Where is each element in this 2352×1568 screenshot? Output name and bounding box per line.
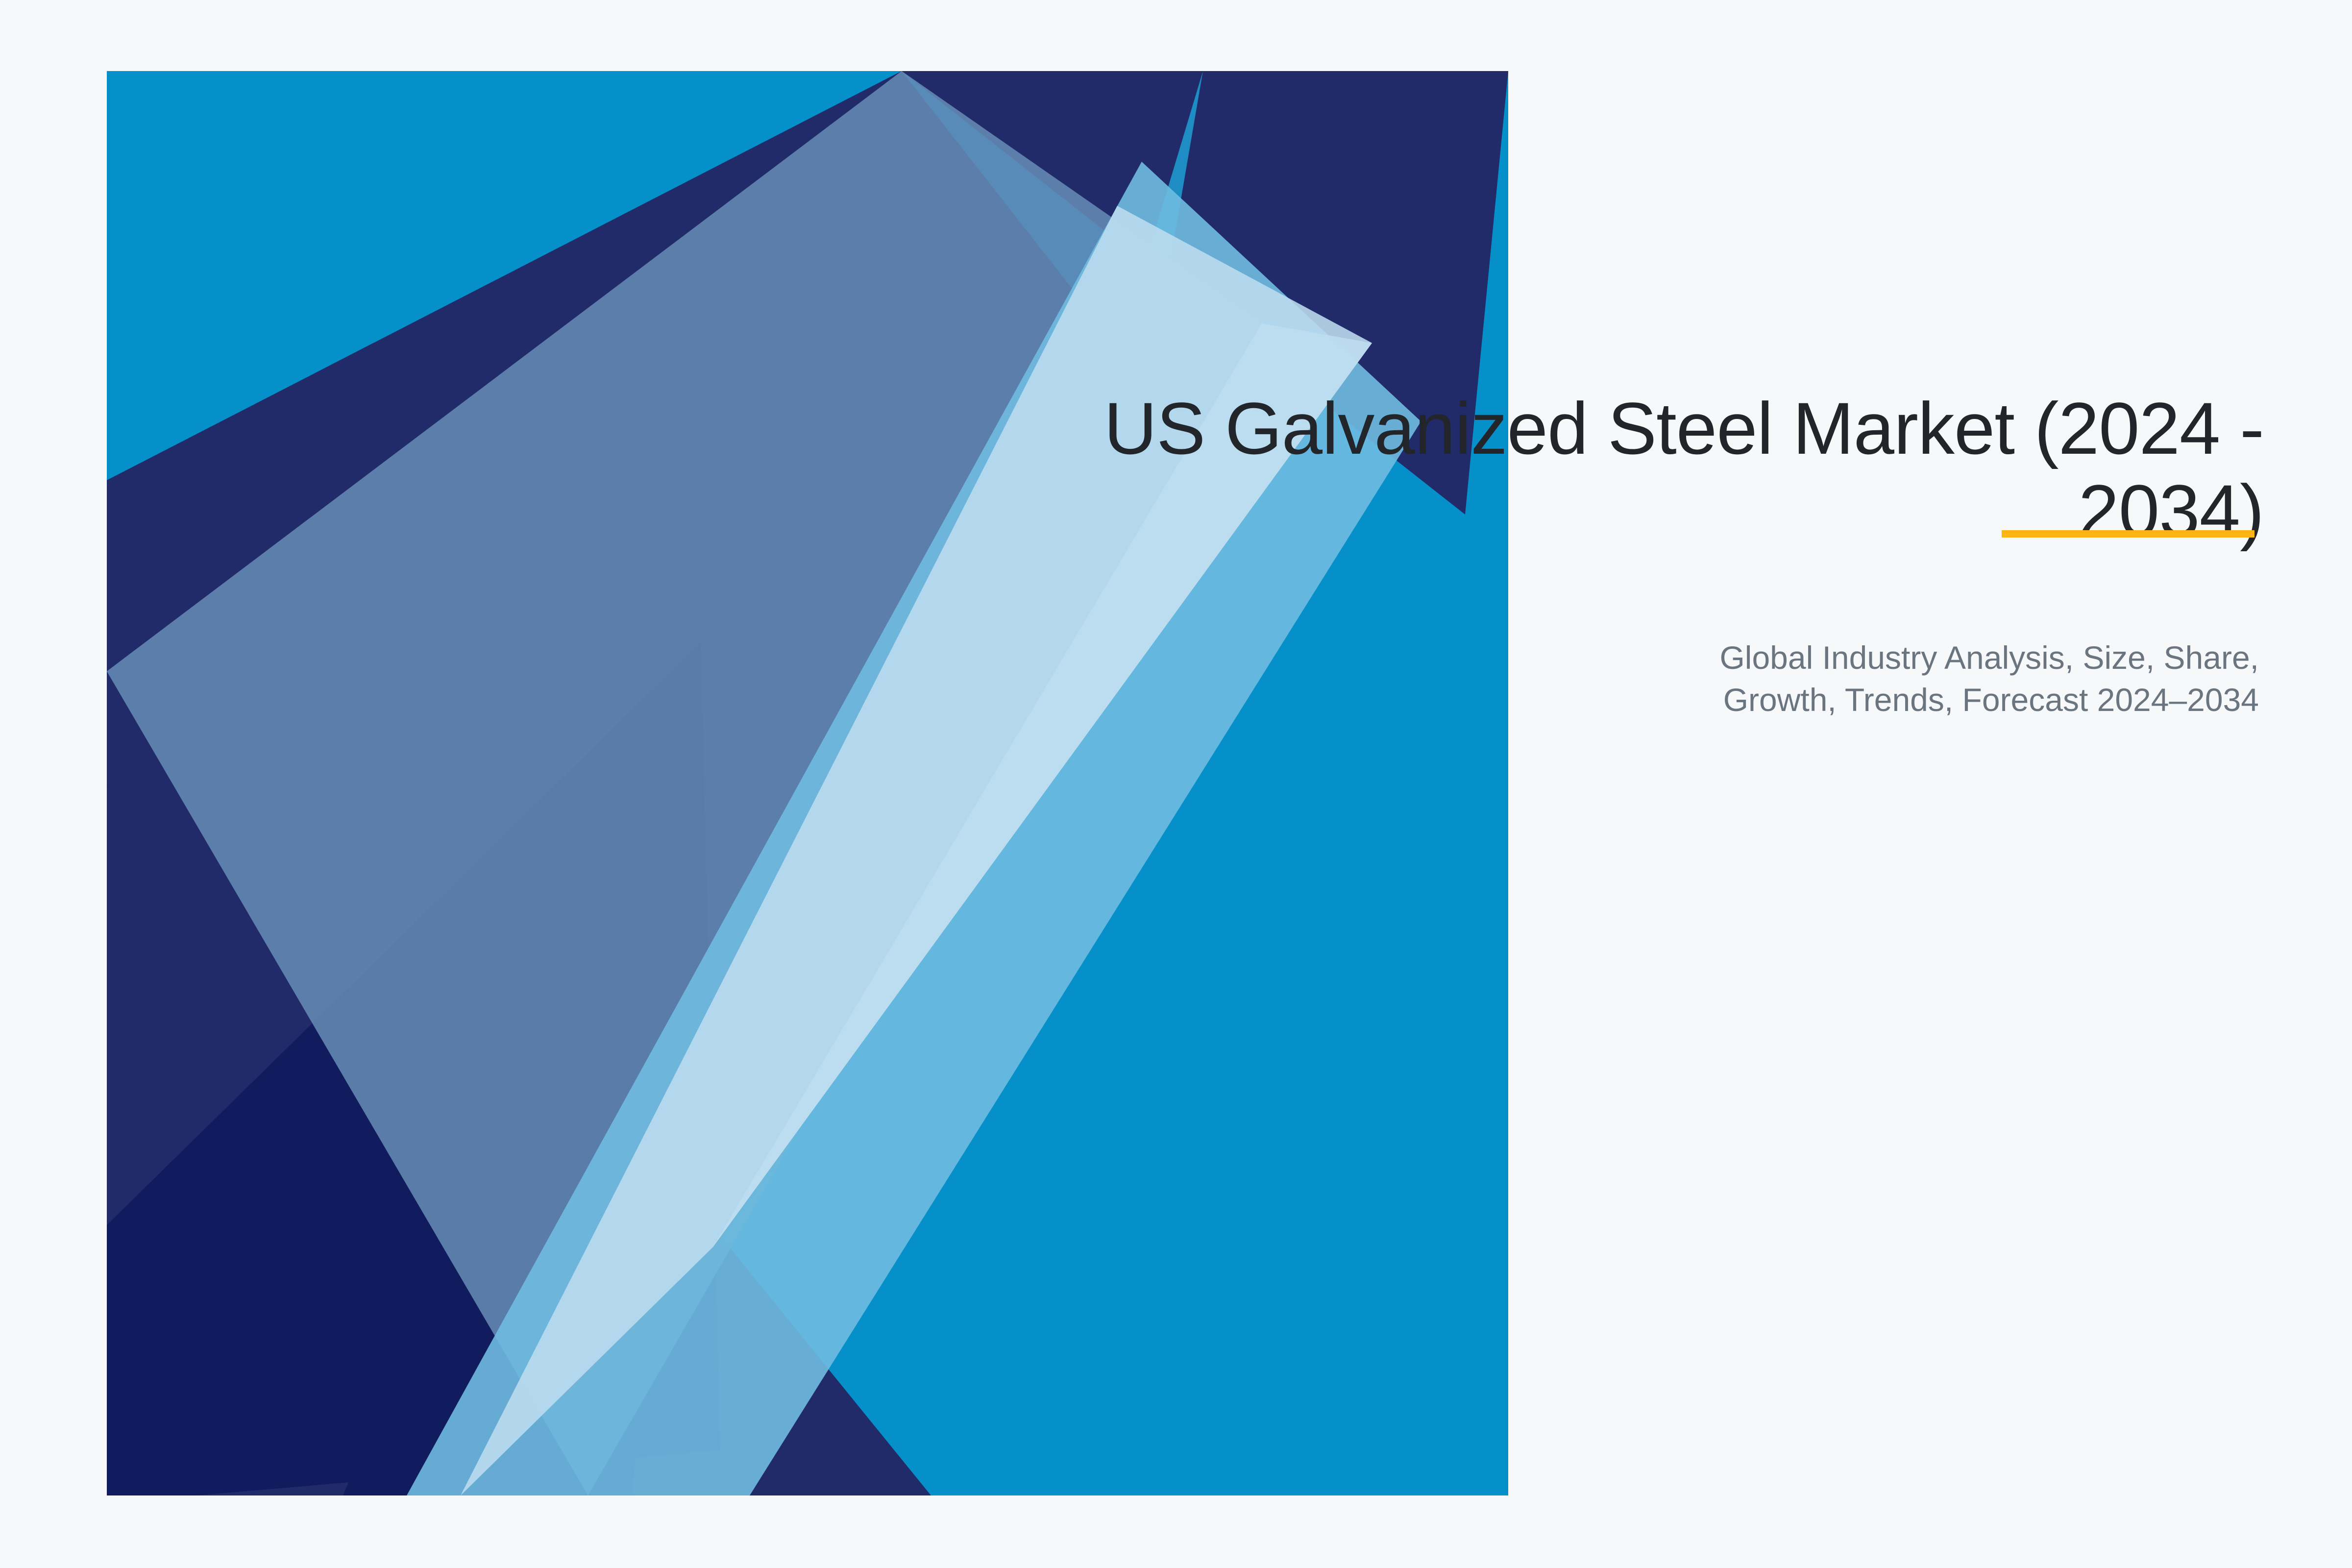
title-slide: US Galvanized Steel Market (2024 - 2034)… (0, 0, 2352, 1568)
title-accent-underline (2002, 530, 2254, 538)
page-title-line-2: 2034) (833, 469, 2264, 552)
page-subtitle-line-2: Growth, Trends, Forecast 2024–2034 (1514, 679, 2259, 721)
text-layer: US Galvanized Steel Market (2024 - 2034)… (0, 0, 2352, 1568)
page-title-line-1: US Galvanized Steel Market (2024 - (833, 387, 2264, 469)
page-subtitle: Global Industry Analysis, Size, Share, G… (1514, 637, 2259, 721)
page-title: US Galvanized Steel Market (2024 - 2034) (833, 387, 2264, 552)
page-subtitle-line-1: Global Industry Analysis, Size, Share, (1514, 637, 2259, 679)
